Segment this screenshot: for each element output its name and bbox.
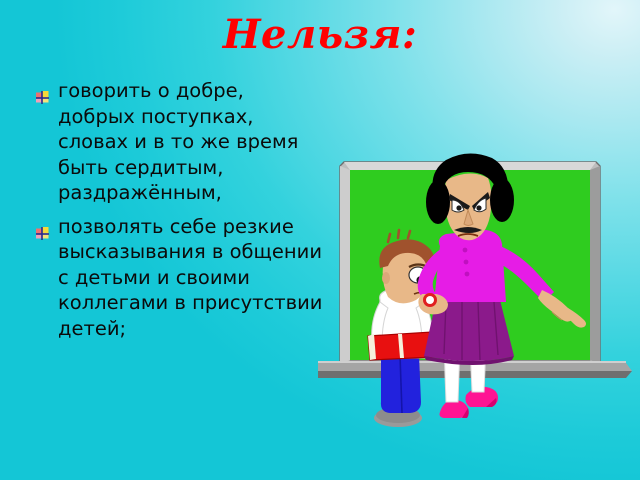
bullet-text: позволять себе резкие высказывания в общ… — [58, 215, 322, 340]
presentation-slide: Нельзя: говорить о добре, добрых поступк… — [0, 0, 640, 480]
bullet-item: говорить о добре, добрых поступках, слов… — [34, 78, 324, 206]
bullet-text: говорить о добре, добрых поступках, слов… — [58, 79, 298, 204]
classroom-illustration — [318, 150, 640, 432]
slide-title: Нельзя: — [0, 10, 640, 60]
bullet-item: позволять себе резкие высказывания в общ… — [34, 214, 324, 342]
four-color-square-bullet-icon — [36, 221, 49, 234]
bullet-list: говорить о добре, добрых поступках, слов… — [34, 78, 324, 349]
four-color-square-bullet-icon — [36, 85, 49, 98]
